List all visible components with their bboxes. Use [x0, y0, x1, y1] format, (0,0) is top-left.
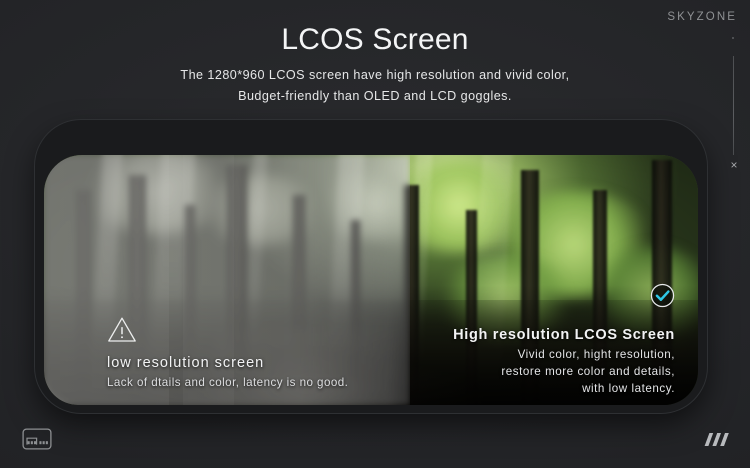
slide-root: SKYZONE × LCOS Screen The 1280*960 LCOS …: [0, 0, 750, 468]
page-subtitle: The 1280*960 LCOS screen have high resol…: [0, 65, 750, 107]
screen-layout-icon[interactable]: [22, 428, 52, 450]
high-resolution-caption: High resolution LCOS Screen Vivid color,…: [453, 327, 675, 397]
page-subtitle-line-2: Budget-friendly than OLED and LCD goggle…: [0, 86, 750, 107]
goggle-screen-bezel: low resolution screen Lack of dtails and…: [35, 120, 707, 413]
warning-triangle-icon: [107, 316, 137, 343]
low-resolution-description: Lack of dtails and color, latency is no …: [107, 374, 348, 391]
high-resolution-heading: High resolution LCOS Screen: [453, 327, 675, 343]
brand-logo: SKYZONE: [667, 11, 737, 23]
low-resolution-heading: low resolution screen: [107, 355, 348, 371]
screen-viewport: low resolution screen Lack of dtails and…: [44, 155, 698, 405]
slanted-bars-icon[interactable]: [700, 432, 730, 447]
close-icon[interactable]: ×: [727, 158, 741, 172]
page-title: LCOS Screen: [0, 23, 750, 57]
low-resolution-caption: low resolution screen Lack of dtails and…: [107, 316, 348, 391]
high-resolution-description-line-1: Vivid color, hight resolution,: [453, 346, 675, 363]
high-resolution-description-line-2: restore more color and details,: [453, 363, 675, 380]
high-resolution-description-line-3: with low latency.: [453, 380, 675, 397]
page-subtitle-line-1: The 1280*960 LCOS screen have high resol…: [0, 65, 750, 86]
check-circle-icon: [650, 283, 675, 308]
high-resolution-description: Vivid color, hight resolution, restore m…: [453, 346, 675, 397]
